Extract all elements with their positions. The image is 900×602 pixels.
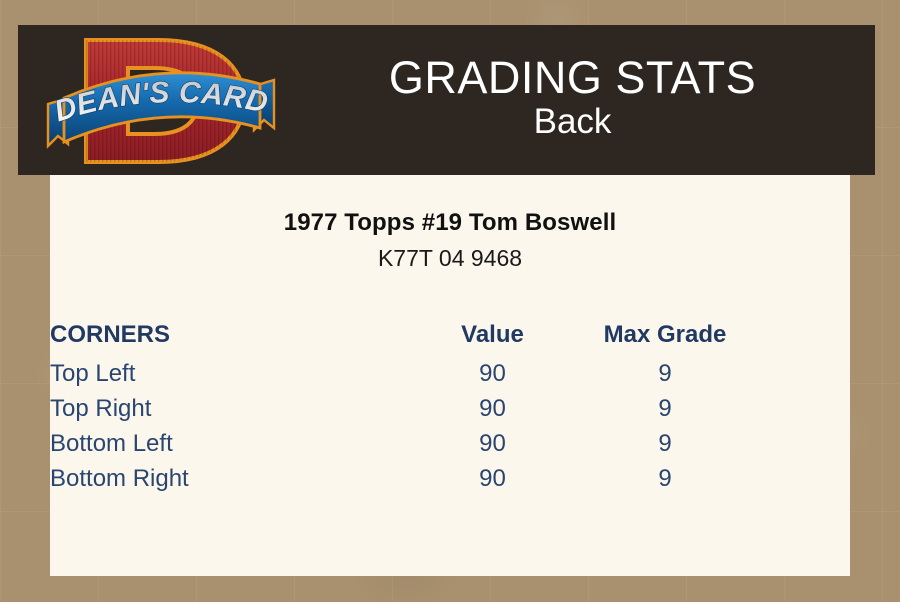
table-row: Top Left 90 9 [50, 356, 750, 391]
page-title: GRADING STATS [280, 54, 865, 102]
row-value: 90 [405, 461, 580, 496]
header-bar: DEAN'S CARDS GRADING STATS Back [18, 25, 875, 175]
row-max-grade: 9 [580, 426, 750, 461]
row-value: 90 [405, 426, 580, 461]
row-max-grade: 9 [580, 461, 750, 496]
row-label: Bottom Right [50, 461, 405, 496]
grading-stats-page: DEAN'S CARDS GRADING STATS Back 1977 Top… [0, 0, 900, 602]
card-title: 1977 Topps #19 Tom Boswell [50, 175, 850, 237]
header-title-group: GRADING STATS Back [280, 54, 875, 147]
row-label: Bottom Left [50, 426, 405, 461]
row-label: Top Left [50, 356, 405, 391]
grading-stats-table: CORNERS Value Max Grade Top Left 90 9 To… [50, 314, 750, 496]
row-value: 90 [405, 391, 580, 426]
table-header-row: CORNERS Value Max Grade [50, 314, 750, 356]
table-header: CORNERS Value Max Grade [50, 314, 750, 356]
deans-cards-logo-icon: DEAN'S CARDS [46, 28, 276, 173]
column-header-value: Value [405, 314, 580, 356]
column-header-max-grade: Max Grade [580, 314, 750, 356]
table-body: Top Left 90 9 Top Right 90 9 Bottom Left… [50, 356, 750, 496]
row-max-grade: 9 [580, 391, 750, 426]
table-row: Top Right 90 9 [50, 391, 750, 426]
row-max-grade: 9 [580, 356, 750, 391]
deans-cards-logo: DEAN'S CARDS [18, 25, 280, 175]
table-row: Bottom Left 90 9 [50, 426, 750, 461]
page-subtitle: Back [280, 101, 865, 142]
column-header-corners: CORNERS [50, 314, 405, 356]
row-value: 90 [405, 356, 580, 391]
card-serial-number: K77T 04 9468 [50, 237, 850, 272]
table-row: Bottom Right 90 9 [50, 461, 750, 496]
content-panel: 1977 Topps #19 Tom Boswell K77T 04 9468 … [50, 175, 850, 576]
row-label: Top Right [50, 391, 405, 426]
